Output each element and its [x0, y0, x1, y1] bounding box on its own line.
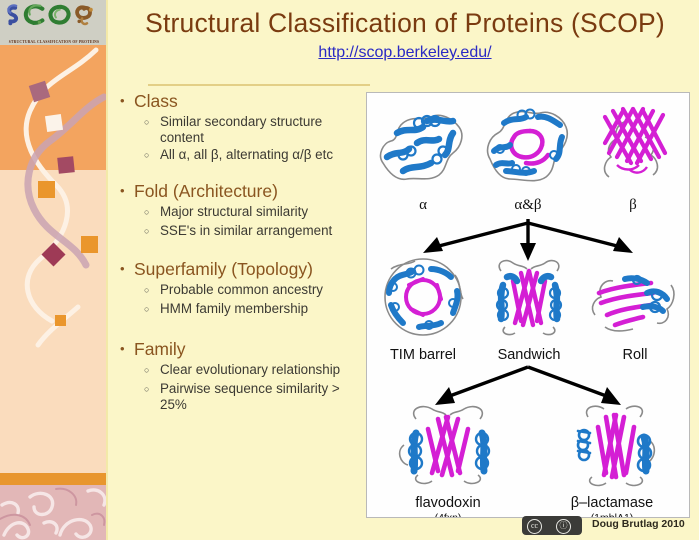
title-divider: [148, 84, 370, 86]
scop-logo-tagline: STRUCTURAL CLASSIFICATION OF PROTEINS: [0, 40, 108, 44]
all-alpha-structure-icon: [373, 99, 473, 191]
decorative-sidebar: STRUCTURAL CLASSIFICATION OF PROTEINS: [0, 0, 108, 540]
circle-marker-icon: ○: [144, 301, 160, 318]
scop-hierarchy-diagram: α: [366, 92, 690, 518]
outline-item-fold: • Fold (Architecture) ○ Major structural…: [118, 180, 368, 240]
sub-item: ○ Probable common ancestry: [118, 282, 368, 299]
sub-item-text: HMM family membership: [160, 301, 308, 317]
sub-item: ○ Clear evolutionary relationship: [118, 362, 368, 379]
bullet-dot-icon: •: [118, 180, 134, 202]
creative-commons-badge[interactable]: cc ⓘ: [522, 516, 582, 535]
tim-barrel-structure-icon: [371, 255, 475, 341]
outline-list: • Class ○ Similar secondary structure co…: [118, 90, 368, 412]
sub-item: ○ Similar secondary structure content: [118, 114, 368, 145]
bullet-dot-icon: •: [118, 338, 134, 360]
scop-logo-graphic: [0, 1, 108, 33]
diagram-cell-tim-barrel: TIM barrel: [369, 255, 477, 364]
diagram-cell-label: Sandwich: [477, 347, 581, 364]
sidebar-square-2: [45, 114, 63, 132]
sub-item-text: Pairwise sequence similarity > 25%: [160, 381, 365, 412]
outline-item-superfamily: • Superfamily (Topology) ○ Probable comm…: [118, 258, 368, 318]
sidebar-square-4: [38, 181, 55, 198]
cc-by-icon: ⓘ: [556, 519, 571, 534]
diagram-cell-label: α&β: [476, 197, 580, 214]
scop-logo: STRUCTURAL CLASSIFICATION OF PROTEINS: [0, 0, 108, 45]
diagram-cell-sublabel: (4fxn): [383, 512, 513, 518]
beta-lactamase-structure-icon: [552, 401, 672, 489]
sidebar-square-7: [55, 315, 66, 326]
diagram-cell-label: TIM barrel: [369, 347, 477, 364]
circle-marker-icon: ○: [144, 223, 160, 240]
sub-item-text: Similar secondary structure content: [160, 114, 365, 145]
sub-item: ○ HMM family membership: [118, 301, 368, 318]
page-title: Structural Classification of Proteins (S…: [120, 8, 690, 39]
sub-item-text: All α, all β, alternating α/β etc: [160, 147, 333, 163]
flavodoxin-structure-icon: [388, 401, 508, 489]
diagram-cell-label: α: [371, 197, 475, 214]
author-credit: Doug Brutlag 2010: [592, 518, 685, 530]
floral-swirls: [0, 485, 108, 540]
circle-marker-icon: ○: [144, 147, 160, 164]
outline-item-family: • Family ○ Clear evolutionary relationsh…: [118, 338, 368, 412]
scop-url-link[interactable]: http://scop.berkeley.edu/: [120, 44, 690, 62]
diagram-cell-roll: Roll: [583, 259, 687, 364]
sidebar-square-5: [81, 236, 98, 253]
diagram-cell-label: flavodoxin: [383, 495, 513, 512]
sidebar-floral-pattern: [0, 485, 108, 540]
sandwich-structure-icon: [479, 255, 579, 341]
sub-item-text: Major structural similarity: [160, 204, 308, 220]
sub-item-text: Probable common ancestry: [160, 282, 323, 298]
roll-structure-icon: [585, 259, 685, 341]
all-beta-structure-icon: [583, 99, 683, 191]
bullet-dot-icon: •: [118, 258, 134, 280]
sub-item: ○ Major structural similarity: [118, 204, 368, 221]
sidebar-orange-band: [0, 473, 108, 485]
circle-marker-icon: ○: [144, 204, 160, 221]
sub-item-text: SSE's in similar arrangement: [160, 223, 332, 239]
diagram-cell-label: β: [581, 197, 685, 214]
outline-label: Family: [134, 338, 186, 360]
sub-item-text: Clear evolutionary relationship: [160, 362, 340, 378]
diagram-cell-beta-lactamase: β–lactamase (1mblA1): [545, 401, 679, 518]
sidebar-edge-stripe: [106, 0, 108, 540]
sub-item: ○ Pairwise sequence similarity > 25%: [118, 381, 368, 412]
alpha-beta-structure-icon: [478, 99, 578, 191]
diagram-cell-sandwich: Sandwich: [477, 255, 581, 364]
circle-marker-icon: ○: [144, 114, 160, 131]
outline-item-class: • Class ○ Similar secondary structure co…: [118, 90, 368, 164]
sub-item: ○ SSE's in similar arrangement: [118, 223, 368, 240]
sub-item: ○ All α, all β, alternating α/β etc: [118, 147, 368, 164]
slide: STRUCTURAL CLASSIFICATION OF PROTEINS: [0, 0, 699, 540]
diagram-cell-label: β–lactamase: [545, 495, 679, 512]
diagram-cell-alpha: α: [371, 99, 475, 214]
outline-label: Fold (Architecture): [134, 180, 278, 202]
cc-icon: cc: [527, 519, 542, 534]
outline-label: Class: [134, 90, 178, 112]
outline-label: Superfamily (Topology): [134, 258, 313, 280]
diagram-cell-beta: β: [581, 99, 685, 214]
sidebar-square-3: [57, 156, 75, 174]
circle-marker-icon: ○: [144, 362, 160, 379]
diagram-cell-flavodoxin: flavodoxin (4fxn): [383, 401, 513, 518]
circle-marker-icon: ○: [144, 381, 160, 398]
diagram-cell-alpha-beta: α&β: [476, 99, 580, 214]
circle-marker-icon: ○: [144, 282, 160, 299]
bullet-dot-icon: •: [118, 90, 134, 112]
diagram-cell-label: Roll: [583, 347, 687, 364]
